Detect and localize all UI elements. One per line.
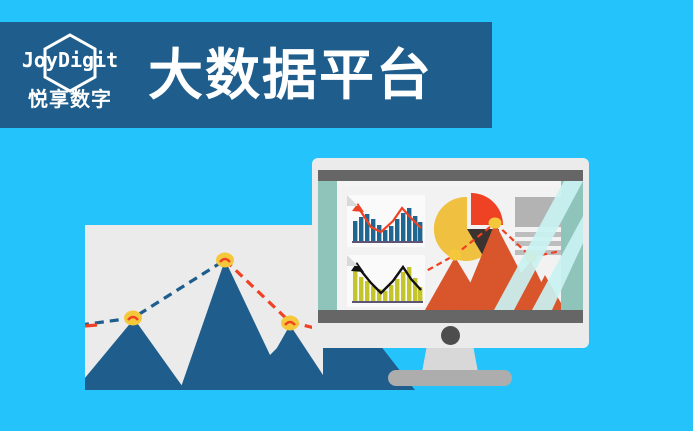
monitor-screen[interactable] <box>318 181 583 310</box>
bar-chart-card-blue-svg <box>347 195 425 247</box>
bar-chart-card-blue[interactable] <box>347 195 425 247</box>
bar-chart-card-olive-svg <box>347 255 425 307</box>
screen-trend-node-2 <box>489 218 502 229</box>
trend-line-left-tip <box>85 325 97 326</box>
monitor-stand <box>422 348 478 372</box>
monitor-bottom-bezel-bar <box>318 310 583 323</box>
monitor-power-knob[interactable] <box>441 326 460 345</box>
header-banner: JoyDigit 悦享数字 大数据平台 <box>0 22 492 128</box>
screen-trend-node-3 <box>525 252 538 263</box>
left-mountain-chart-svg <box>85 225 323 390</box>
logo-subtitle: 悦享数字 <box>14 89 126 111</box>
trend-line-rising <box>85 260 225 325</box>
logo-wordmark: JoyDigit <box>14 49 126 71</box>
brand-logo[interactable]: JoyDigit 悦享数字 <box>14 33 126 117</box>
poster-canvas: JoyDigit 悦享数字 大数据平台 <box>0 0 693 431</box>
desktop-monitor <box>312 158 589 348</box>
monitor-base <box>388 370 512 386</box>
screen-trend-node-1 <box>449 250 462 261</box>
monitor-top-bezel-bar <box>318 170 583 181</box>
left-mountain-chart-panel <box>85 225 323 390</box>
screen-side-band-left <box>318 181 337 310</box>
mountain-area-chart <box>425 205 561 310</box>
mountain-area-chart-svg <box>425 205 561 310</box>
mountain-shape-main <box>85 320 185 390</box>
bar-chart-card-olive[interactable] <box>347 255 425 307</box>
page-title: 大数据平台 <box>148 45 433 105</box>
screen-side-band-right <box>561 181 583 310</box>
dashboard-content <box>337 187 561 310</box>
